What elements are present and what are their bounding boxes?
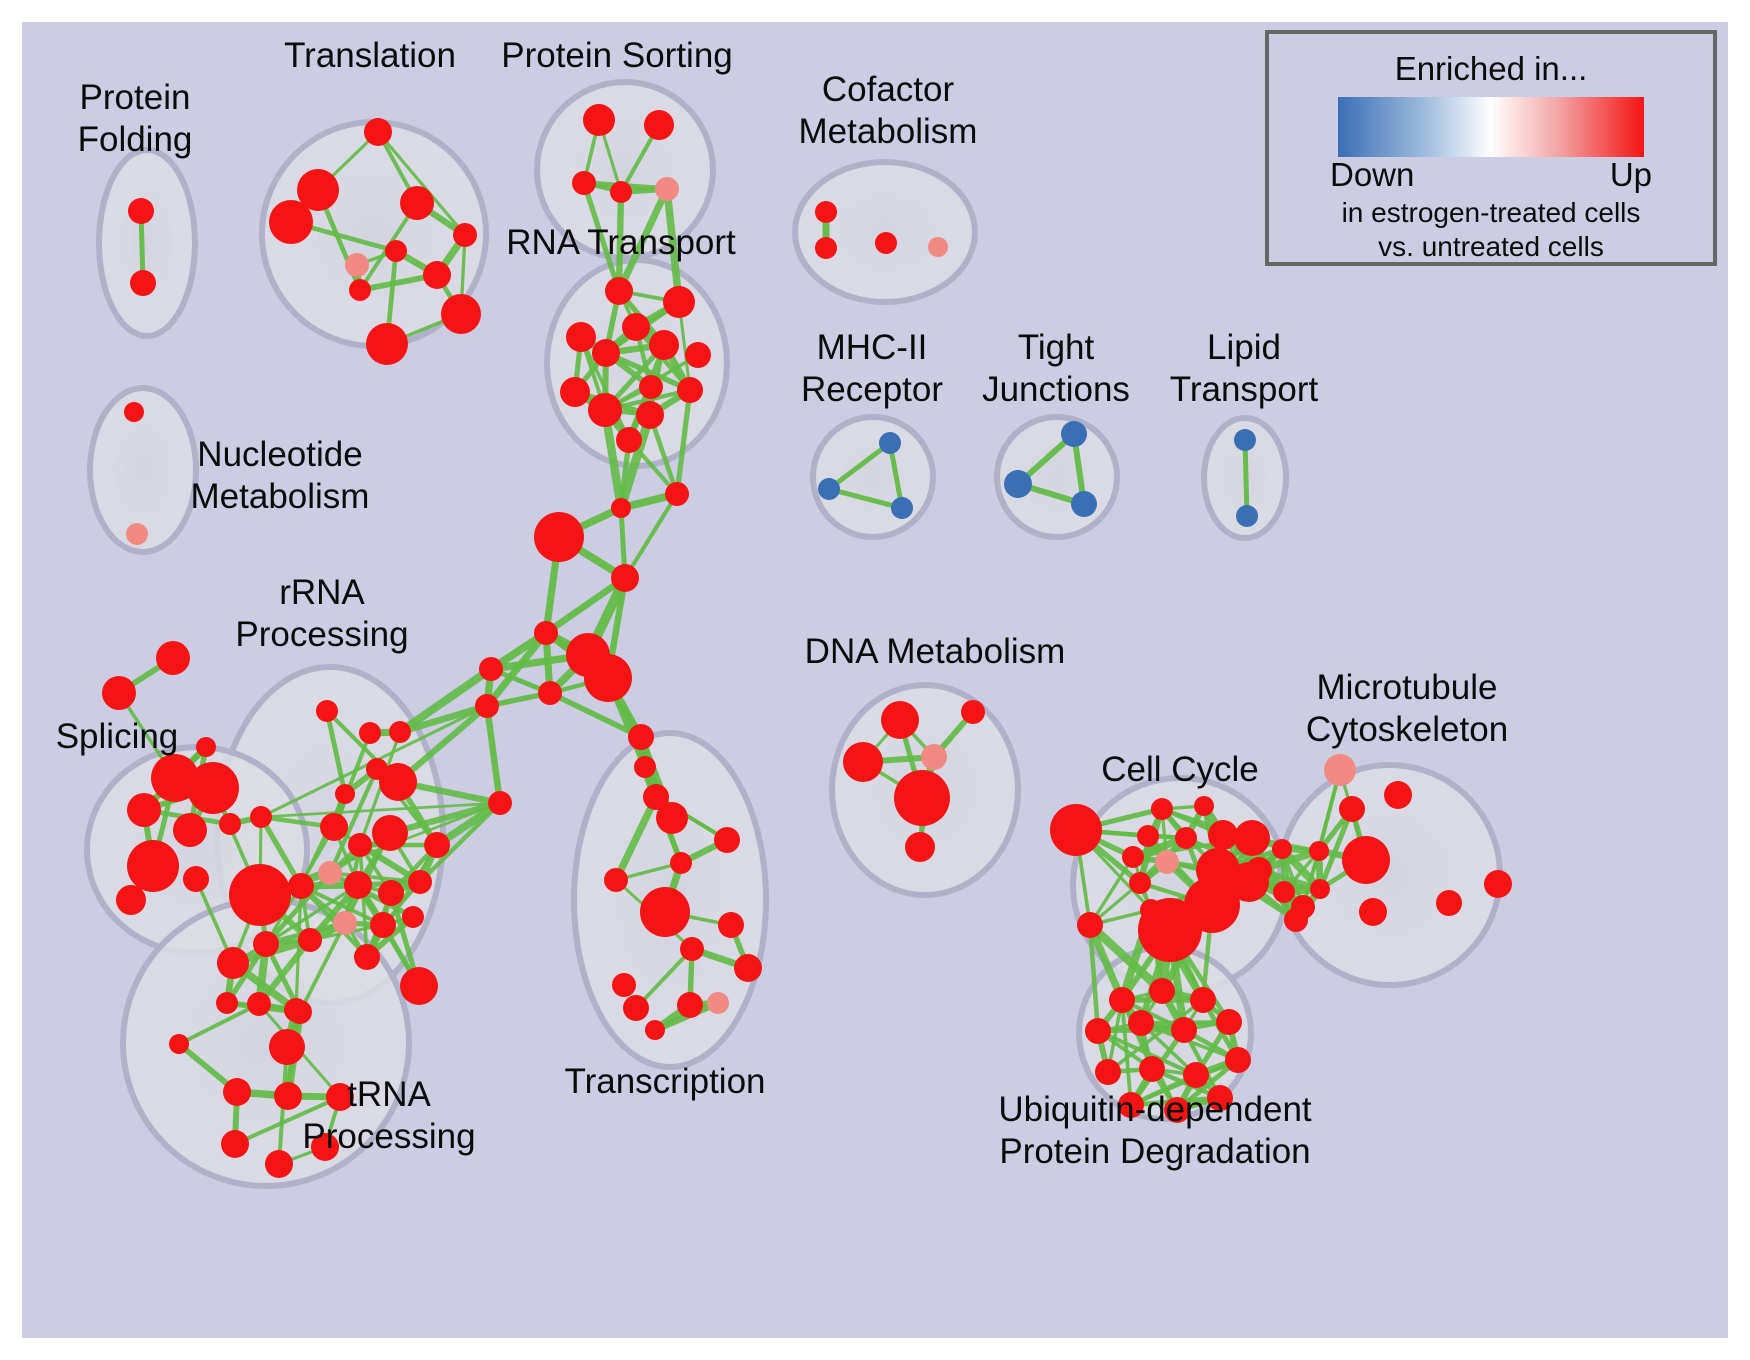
gene-set-node-protein-folding[interactable] — [130, 270, 156, 296]
gene-set-node-rrna-processing[interactable] — [372, 815, 408, 851]
gene-set-node-transcription[interactable] — [656, 802, 688, 834]
gene-set-node-rrna-processing[interactable] — [379, 763, 417, 801]
gene-set-node-translation[interactable] — [385, 240, 407, 262]
gene-set-node-transcription[interactable] — [612, 973, 636, 997]
legend-subtitle-line2: vs. untreated cells — [1378, 231, 1604, 262]
gene-set-node-transcription[interactable] — [604, 868, 628, 892]
cluster-label-line: rRNA — [279, 573, 365, 612]
gene-set-node-rna-transport[interactable] — [685, 342, 711, 368]
gene-set-node-cell-cycle[interactable] — [1208, 820, 1238, 850]
cluster-label-translation: Translation — [284, 36, 456, 75]
gene-set-node-mid-link[interactable] — [475, 694, 499, 718]
gene-set-node-transcription[interactable] — [680, 937, 704, 961]
gene-set-node-transcription[interactable] — [734, 954, 762, 982]
gene-set-node-protein-sorting[interactable] — [583, 104, 615, 136]
gene-set-node-trna-processing[interactable] — [169, 1034, 189, 1054]
gene-set-node-cell-cycle[interactable] — [1050, 804, 1102, 856]
gene-set-node-mid-link[interactable] — [584, 654, 632, 702]
cluster-label-line: Folding — [78, 120, 193, 159]
gene-set-node-rrna-processing[interactable] — [389, 721, 411, 743]
cluster-label-line: Lipid — [1207, 328, 1281, 367]
cluster-label-line: Cell Cycle — [1101, 750, 1259, 789]
cluster-label-line: RNA Transport — [506, 223, 736, 262]
gene-set-node-splicing[interactable] — [127, 793, 161, 827]
gene-set-node-splicing[interactable] — [216, 992, 238, 1014]
gene-set-node-microtubule[interactable] — [1339, 796, 1365, 822]
gene-set-node-rrna-processing[interactable] — [288, 873, 314, 899]
gene-set-node-splicing[interactable] — [217, 947, 249, 979]
gene-set-node-rrna-processing[interactable] — [298, 928, 322, 952]
gene-set-node-trna-processing[interactable] — [221, 1130, 249, 1158]
gene-set-node-translation[interactable] — [364, 118, 392, 146]
gene-set-node-transcription[interactable] — [645, 1020, 665, 1040]
legend-down-label: Down — [1330, 156, 1414, 193]
gene-set-node-ubiquitin[interactable] — [1085, 1018, 1111, 1044]
gene-set-node-mid-link[interactable] — [628, 724, 654, 750]
gene-set-node-cell-cycle[interactable] — [1175, 827, 1197, 849]
cluster-label-line: Transcription — [565, 1062, 766, 1101]
gene-set-node-rrna-processing[interactable] — [316, 700, 338, 722]
cluster-hull-protein-folding[interactable] — [99, 150, 195, 336]
gene-set-node-protein-sorting[interactable] — [644, 110, 674, 140]
gene-set-node-cell-cycle[interactable] — [1137, 825, 1159, 847]
gene-set-node-rna-transport[interactable] — [560, 377, 590, 407]
gene-set-node-protein-sorting[interactable] — [572, 171, 596, 195]
gene-set-node-ubiquitin[interactable] — [1128, 1010, 1154, 1036]
cluster-label-line: Splicing — [56, 717, 179, 756]
gene-set-node-splicing[interactable] — [183, 866, 209, 892]
cluster-label-line: Nucleotide — [197, 435, 362, 474]
gene-set-node-microtubule[interactable] — [1484, 870, 1512, 898]
gene-set-node-cofactor-metabolism[interactable] — [815, 201, 837, 223]
gene-set-node-splicing[interactable] — [196, 737, 216, 757]
legend-title: Enriched in... — [1395, 50, 1588, 87]
gene-set-node-dna-metabolism[interactable] — [921, 744, 947, 770]
gene-set-node-nucleotide-metabolism[interactable] — [126, 523, 148, 545]
gene-set-node-ubiquitin[interactable] — [1139, 1056, 1165, 1082]
gene-set-node-transcription[interactable] — [718, 912, 744, 938]
gene-set-node-microtubule[interactable] — [1342, 836, 1390, 884]
gene-set-node-ubiquitin[interactable] — [1225, 1047, 1251, 1073]
gene-set-node-mid-link[interactable] — [611, 564, 639, 592]
cluster-label-line: Protein Sorting — [501, 36, 733, 75]
cluster-label-line: Microtubule — [1317, 668, 1498, 707]
cluster-label-splicing: Splicing — [56, 717, 179, 756]
gene-set-node-mid-link[interactable] — [665, 482, 689, 506]
gene-set-node-translation[interactable] — [423, 261, 451, 289]
gene-set-node-ubiquitin[interactable] — [1095, 1059, 1121, 1085]
gene-set-node-microtubule[interactable] — [1384, 781, 1412, 809]
gene-set-node-translation[interactable] — [349, 279, 371, 301]
gene-set-node-rrna-processing[interactable] — [378, 880, 404, 906]
gene-set-node-trna-processing[interactable] — [274, 1082, 302, 1110]
gene-set-node-microtubule[interactable] — [1310, 879, 1330, 899]
gene-set-node-rna-transport[interactable] — [677, 377, 703, 403]
gene-set-node-ubiquitin[interactable] — [1149, 978, 1175, 1004]
gene-set-node-cell-cycle[interactable] — [1272, 839, 1292, 859]
gene-set-node-dna-metabolism[interactable] — [894, 770, 950, 826]
gene-set-node-rna-transport[interactable] — [639, 375, 663, 399]
gene-set-node-rrna-processing[interactable] — [335, 784, 355, 804]
gene-set-node-mid-link[interactable] — [534, 621, 558, 645]
gene-set-node-mid-link[interactable] — [611, 498, 631, 518]
gene-set-node-rrna-processing[interactable] — [400, 967, 438, 1005]
gene-set-node-splicing[interactable] — [127, 840, 179, 892]
gene-set-node-trna-processing[interactable] — [247, 992, 271, 1016]
gene-set-node-cell-cycle[interactable] — [1077, 912, 1103, 938]
gene-set-node-rrna-processing[interactable] — [370, 912, 396, 938]
gene-set-node-transcription[interactable] — [640, 887, 690, 937]
gene-set-node-mid-link[interactable] — [538, 681, 562, 705]
gene-set-node-cofactor-metabolism[interactable] — [928, 237, 948, 257]
cluster-label-line: Junctions — [982, 370, 1130, 409]
cluster-label-line: Tight — [1018, 328, 1095, 367]
cluster-label-transcription: Transcription — [565, 1062, 766, 1101]
gene-set-node-cell-cycle[interactable] — [1234, 820, 1270, 856]
gene-set-node-translation[interactable] — [400, 186, 434, 220]
cluster-label-line: Translation — [284, 36, 456, 75]
gene-set-node-dna-metabolism[interactable] — [961, 700, 985, 724]
legend-color-gradient-bar — [1338, 97, 1644, 157]
gene-set-node-transcription[interactable] — [714, 827, 740, 853]
gene-set-node-cell-cycle[interactable] — [1194, 796, 1214, 816]
cluster-hull-cofactor-metabolism[interactable] — [795, 162, 975, 302]
gene-set-node-ubiquitin[interactable] — [1183, 1062, 1209, 1088]
gene-set-node-protein-sorting[interactable] — [610, 181, 632, 203]
cluster-label-dna-metabolism: DNA Metabolism — [805, 632, 1066, 671]
gene-set-node-rrna-processing[interactable] — [402, 906, 424, 928]
gene-set-node-trna-processing[interactable] — [265, 1150, 293, 1178]
gene-set-node-mhc-ii-receptor[interactable] — [818, 478, 840, 500]
gene-set-node-rna-transport[interactable] — [636, 401, 664, 429]
gene-set-node-translation[interactable] — [269, 200, 313, 244]
gene-set-node-rrna-processing[interactable] — [253, 931, 279, 957]
gene-set-node-translation[interactable] — [345, 253, 369, 277]
gene-set-node-rna-transport[interactable] — [605, 277, 633, 305]
gene-set-node-nucleotide-metabolism[interactable] — [124, 402, 144, 422]
gene-set-node-mid-link[interactable] — [634, 756, 656, 778]
cluster-label-line: Ubiquitin-dependent — [998, 1090, 1312, 1129]
gene-set-node-microtubule[interactable] — [1309, 841, 1329, 861]
gene-set-node-splicing[interactable] — [250, 806, 272, 828]
cluster-label-line: Transport — [1170, 370, 1319, 409]
gene-set-node-cell-cycle[interactable] — [1129, 872, 1151, 894]
gene-set-node-rrna-processing[interactable] — [344, 871, 372, 899]
gene-set-node-rna-transport[interactable] — [649, 330, 679, 360]
gene-set-node-transcription[interactable] — [670, 852, 692, 874]
gene-set-node-transcription[interactable] — [707, 992, 729, 1014]
gene-set-node-ubiquitin[interactable] — [1109, 987, 1135, 1013]
gene-set-node-rrna-processing[interactable] — [348, 833, 372, 857]
gene-set-node-microtubule[interactable] — [1291, 895, 1315, 919]
gene-set-node-mid-link[interactable] — [479, 657, 503, 681]
cluster-label-line: Cytoskeleton — [1306, 710, 1508, 749]
gene-set-node-translation[interactable] — [366, 323, 408, 365]
gene-set-node-dna-metabolism[interactable] — [905, 832, 935, 862]
gene-set-node-rrna-processing[interactable] — [408, 870, 432, 894]
network-canvas: ProteinFoldingTranslationProtein Sorting… — [0, 0, 1750, 1360]
gene-set-node-rna-transport[interactable] — [566, 322, 596, 352]
gene-set-node-cell-cycle[interactable] — [1273, 881, 1295, 903]
gene-set-node-trna-processing[interactable] — [269, 1029, 305, 1065]
gene-set-node-protein-folding[interactable] — [128, 198, 154, 224]
gene-set-node-rna-transport[interactable] — [588, 393, 622, 427]
cluster-label-line: Processing — [302, 1117, 475, 1156]
gene-set-node-mhc-ii-receptor[interactable] — [879, 432, 901, 454]
gene-set-node-rna-transport[interactable] — [616, 427, 642, 453]
gene-set-node-ubiquitin[interactable] — [1171, 1017, 1197, 1043]
gene-set-node-tight-junctions[interactable] — [1061, 421, 1087, 447]
gene-set-node-ubiquitin[interactable] — [1216, 1009, 1242, 1035]
gene-set-node-rrna-processing[interactable] — [333, 911, 357, 935]
gene-set-node-cell-cycle[interactable] — [1140, 899, 1162, 921]
gene-set-node-splicing[interactable] — [156, 641, 190, 675]
gene-set-node-splicing[interactable] — [116, 885, 146, 915]
gene-set-node-rrna-processing[interactable] — [359, 722, 381, 744]
legend-subtitle-line1: in estrogen-treated cells — [1342, 197, 1641, 228]
gene-set-node-trna-processing[interactable] — [223, 1078, 251, 1106]
gene-set-node-splicing[interactable] — [229, 864, 291, 926]
cluster-label-line: DNA Metabolism — [805, 632, 1066, 671]
legend-up-label: Up — [1610, 156, 1652, 193]
gene-set-node-microtubule[interactable] — [1436, 890, 1462, 916]
gene-set-node-splicing[interactable] — [173, 813, 207, 847]
gene-set-node-rna-transport[interactable] — [592, 339, 620, 367]
gene-set-node-splicing[interactable] — [219, 813, 241, 835]
cluster-hull-mhc-ii-receptor[interactable] — [813, 417, 933, 537]
cluster-label-line: Metabolism — [799, 112, 978, 151]
gene-set-node-cell-cycle[interactable] — [1151, 798, 1173, 820]
gene-set-node-rrna-processing[interactable] — [424, 832, 450, 858]
gene-set-node-splicing[interactable] — [187, 762, 239, 814]
cluster-label-line: Processing — [235, 615, 408, 654]
cluster-label-line: tRNA — [347, 1075, 431, 1114]
gene-set-node-lipid-transport[interactable] — [1236, 505, 1258, 527]
gene-set-node-dna-metabolism[interactable] — [843, 742, 883, 782]
gene-set-node-dna-metabolism[interactable] — [881, 701, 919, 739]
cluster-label-line: Protein — [80, 78, 191, 117]
gene-set-node-microtubule[interactable] — [1359, 898, 1387, 926]
enrichment-map-figure: ProteinFoldingTranslationProtein Sorting… — [0, 0, 1750, 1360]
gene-set-node-rrna-processing[interactable] — [284, 998, 308, 1022]
gene-set-node-protein-sorting[interactable] — [655, 177, 679, 201]
gene-set-node-cofactor-metabolism[interactable] — [875, 232, 897, 254]
gene-set-node-ubiquitin[interactable] — [1190, 987, 1216, 1013]
cluster-label-cell-cycle: Cell Cycle — [1101, 750, 1259, 789]
cluster-label-line: Cofactor — [822, 70, 955, 109]
gene-set-node-mhc-ii-receptor[interactable] — [891, 497, 913, 519]
gene-set-node-tight-junctions[interactable] — [1004, 470, 1032, 498]
gene-set-node-mid-link[interactable] — [534, 512, 584, 562]
gene-set-node-transcription[interactable] — [677, 992, 703, 1018]
gene-set-node-cell-cycle[interactable] — [1184, 877, 1240, 933]
gene-set-node-translation[interactable] — [441, 294, 481, 334]
cluster-label-line: Metabolism — [191, 477, 370, 516]
cluster-label-line: MHC-II — [817, 328, 928, 367]
gene-set-node-transcription[interactable] — [623, 995, 649, 1021]
edge — [1245, 440, 1247, 516]
gene-set-node-rna-transport[interactable] — [622, 313, 650, 341]
gene-set-node-rrna-processing[interactable] — [318, 861, 342, 885]
gene-set-node-cell-cycle[interactable] — [1155, 850, 1179, 874]
gene-set-node-cofactor-metabolism[interactable] — [815, 237, 837, 259]
gene-set-node-rrna-processing[interactable] — [354, 944, 380, 970]
cluster-label-protein-sorting: Protein Sorting — [501, 36, 733, 75]
gene-set-node-splicing[interactable] — [102, 676, 136, 710]
cluster-label-line: Receptor — [801, 370, 943, 409]
gene-set-node-rrna-processing[interactable] — [320, 813, 348, 841]
gene-set-node-rna-transport[interactable] — [663, 286, 695, 318]
gene-set-node-microtubule[interactable] — [1324, 754, 1356, 786]
cluster-label-line: Protein Degradation — [999, 1132, 1310, 1171]
gene-set-node-tight-junctions[interactable] — [1071, 491, 1097, 517]
cluster-label-rna-transport: RNA Transport — [506, 223, 736, 262]
gene-set-node-cell-cycle[interactable] — [1122, 846, 1144, 868]
legend: Enriched in... Down Up in estrogen-treat… — [1267, 32, 1715, 264]
gene-set-node-lipid-transport[interactable] — [1234, 429, 1256, 451]
gene-set-node-mid-link[interactable] — [488, 791, 512, 815]
gene-set-node-translation[interactable] — [453, 223, 477, 247]
